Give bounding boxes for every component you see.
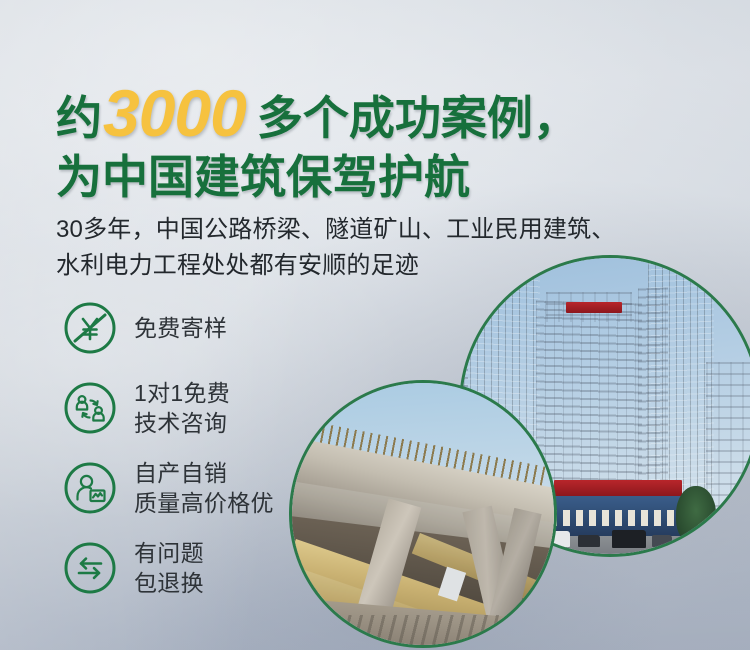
feature-line-2: 技术咨询 (134, 408, 230, 438)
headline-number: 3000 (102, 80, 248, 146)
headline-suffix: 多个成功案例， (248, 95, 579, 141)
facade-sign (554, 480, 682, 496)
feature-list: 免费寄样 1对1免费 技术咨询 (62, 300, 362, 620)
feature-line-2: 包退换 (134, 568, 204, 598)
headline-line-2: 为中国建筑保驾护航 (56, 150, 716, 204)
feature-line-2: 质量高价格优 (134, 488, 274, 518)
promo-banner: 约 3000 多个成功案例， 为中国建筑保驾护航 30多年，中国公路桥梁、隧道矿… (0, 0, 750, 650)
feature-line-1: 免费寄样 (134, 313, 227, 343)
one-on-one-consult-icon (62, 380, 118, 436)
feature-text: 自产自销 质量高价格优 (134, 458, 274, 519)
feature-text: 有问题 包退换 (134, 538, 204, 599)
entrance-columns (550, 510, 678, 526)
free-sample-icon (62, 300, 118, 356)
feature-item-consulting: 1对1免费 技术咨询 (62, 380, 362, 436)
headline: 约 3000 多个成功案例， 为中国建筑保驾护航 (56, 78, 716, 204)
feature-item-self-produce: 自产自销 质量高价格优 (62, 460, 362, 516)
car-3 (578, 535, 600, 547)
self-produce-sell-icon (62, 460, 118, 516)
headline-line-1: 约 3000 多个成功案例， (56, 78, 716, 144)
feature-line-1: 自产自销 (134, 458, 274, 488)
car-4 (612, 530, 646, 548)
feature-text: 免费寄样 (134, 313, 227, 343)
subtitle-line-1: 30多年，中国公路桥梁、隧道矿山、工业民用建筑、 (56, 212, 721, 248)
car-5 (652, 535, 672, 547)
feature-item-free-sample: 免费寄样 (62, 300, 362, 356)
return-exchange-icon (62, 540, 118, 596)
feature-line-1: 1对1免费 (134, 378, 230, 408)
roof-sign (566, 302, 622, 313)
feature-text: 1对1免费 技术咨询 (134, 378, 230, 439)
headline-prefix: 约 (56, 95, 102, 141)
feature-item-return-exchange: 有问题 包退换 (62, 540, 362, 596)
feature-line-1: 有问题 (134, 538, 204, 568)
